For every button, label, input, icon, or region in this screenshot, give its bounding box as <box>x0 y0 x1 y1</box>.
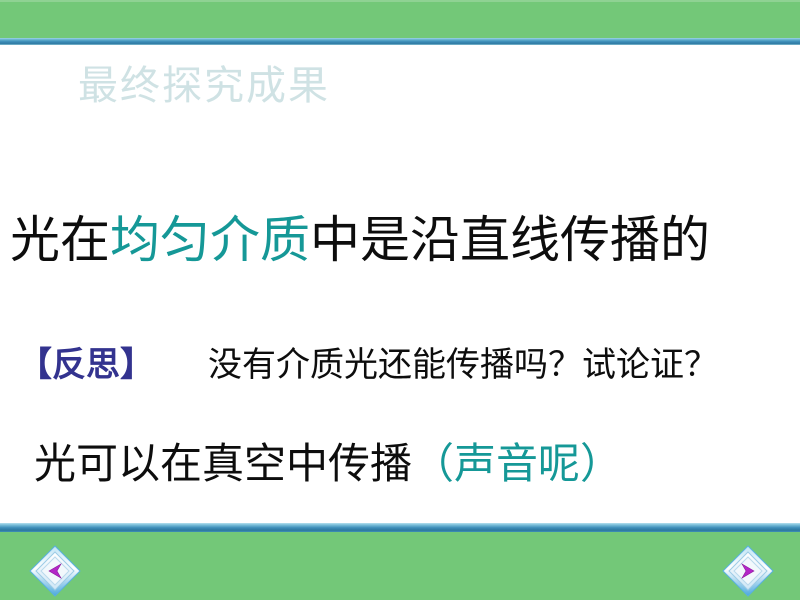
bottom-green-band <box>0 532 800 600</box>
bottom-blue-rule <box>0 523 800 532</box>
slide-canvas: 最终探究成果 光在均匀介质中是沿直线传播的 【反思】没有介质光还能传播吗？试论证… <box>0 0 800 600</box>
next-slide-button[interactable] <box>722 545 774 597</box>
reflection-tag: 【反思】 <box>18 345 154 385</box>
conclusion-highlight: 均匀介质 <box>110 211 310 269</box>
reflection-question: 没有介质光还能传播吗？试论证？ <box>208 345 718 385</box>
top-blue-rule-hairline <box>0 44 800 45</box>
right-arrow-diamond-icon[interactable] <box>722 545 774 597</box>
conclusion-prefix: 光在 <box>10 211 110 269</box>
answer-aside: （声音呢） <box>412 439 622 488</box>
prev-slide-button[interactable] <box>29 545 81 597</box>
left-arrow-diamond-icon[interactable] <box>29 545 81 597</box>
top-green-band <box>0 0 800 38</box>
conclusion-line: 光在均匀介质中是沿直线传播的 <box>10 210 710 270</box>
page-title: 最终探究成果 <box>78 62 330 110</box>
reflection-line: 【反思】没有介质光还能传播吗？试论证？ <box>18 343 718 387</box>
top-band-highlight <box>0 0 800 2</box>
answer-statement: 光可以在真空中传播 <box>34 439 412 488</box>
answer-line: 光可以在真空中传播（声音呢） <box>34 437 622 491</box>
conclusion-suffix: 中是沿直线传播的 <box>310 211 710 269</box>
